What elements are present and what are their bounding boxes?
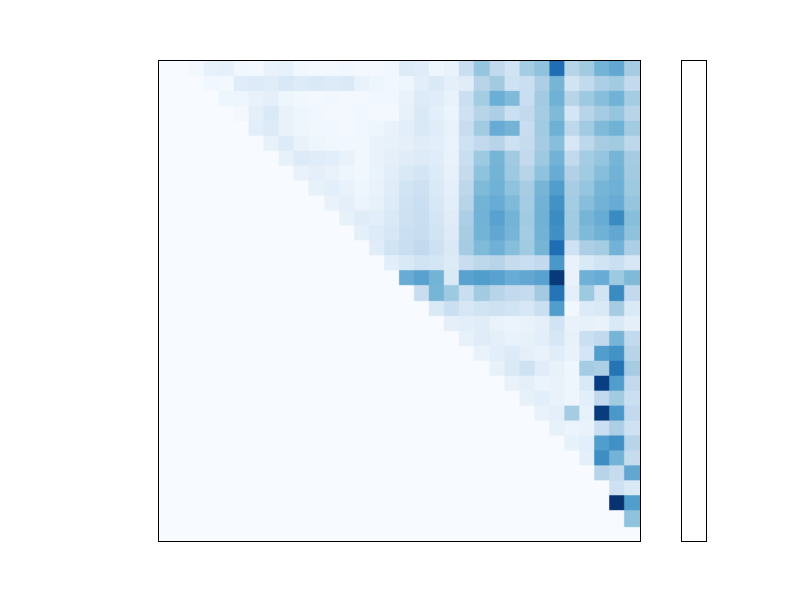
heatmap-axes: [158, 60, 641, 542]
heatmap-image: [159, 61, 640, 541]
figure-canvas: [0, 0, 800, 600]
colorbar: [681, 60, 707, 542]
colorbar-image: [682, 61, 706, 541]
colorbar-gradient: [681, 60, 707, 542]
